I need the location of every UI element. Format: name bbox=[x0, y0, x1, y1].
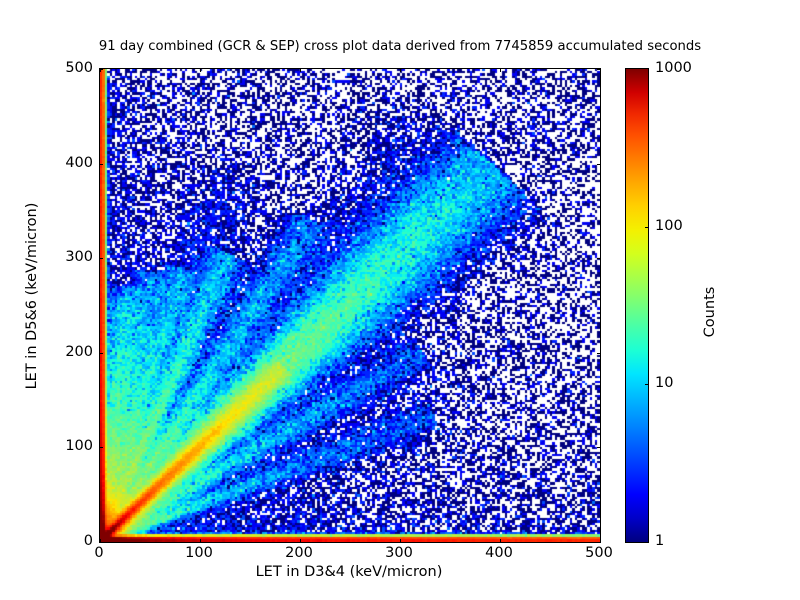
x-tick-label: 500 bbox=[585, 545, 613, 561]
figure-title-line-1: 91 day combined (GCR & SEP) cross plot d… bbox=[0, 39, 800, 56]
y-tick-label: 500 bbox=[65, 60, 93, 76]
colorbar-tick-label: 1000 bbox=[655, 60, 692, 76]
x-tick-mark bbox=[300, 539, 301, 543]
x-tick-mark-top bbox=[200, 68, 201, 72]
x-tick-label: 200 bbox=[285, 545, 313, 561]
y-axis-label: LET in D5&6 (keV/micron) bbox=[24, 146, 40, 446]
y-tick-mark-right bbox=[597, 447, 601, 448]
y-tick-mark-right bbox=[597, 542, 601, 543]
x-tick-label: 0 bbox=[94, 545, 103, 561]
y-tick-label: 0 bbox=[84, 533, 93, 549]
colorbar-label: Counts bbox=[702, 212, 718, 412]
colorbar-tick-label: 100 bbox=[655, 218, 683, 234]
y-tick-label: 400 bbox=[65, 155, 93, 171]
y-tick-mark bbox=[99, 353, 103, 354]
x-tick-mark-top bbox=[400, 68, 401, 72]
y-tick-mark bbox=[99, 164, 103, 165]
y-tick-label-group: 0100200300400500 bbox=[0, 0, 93, 600]
y-tick-mark bbox=[99, 258, 103, 259]
y-tick-mark-right bbox=[597, 353, 601, 354]
y-tick-mark bbox=[99, 447, 103, 448]
y-tick-label: 100 bbox=[65, 438, 93, 454]
x-axis-label: LET in D3&4 (keV/micron) bbox=[99, 564, 599, 580]
x-tick-label: 400 bbox=[485, 545, 513, 561]
x-tick-mark bbox=[100, 539, 101, 543]
y-tick-label: 200 bbox=[65, 344, 93, 360]
x-tick-mark bbox=[400, 539, 401, 543]
colorbar-tick-label: 1 bbox=[655, 533, 664, 549]
x-tick-mark bbox=[200, 539, 201, 543]
x-tick-mark-top bbox=[300, 68, 301, 72]
y-tick-label: 300 bbox=[65, 249, 93, 265]
x-tick-mark-top bbox=[500, 68, 501, 72]
y-tick-mark-right bbox=[597, 164, 601, 165]
x-tick-label: 300 bbox=[385, 545, 413, 561]
colorbar-tick-label: 10 bbox=[655, 375, 673, 391]
y-tick-mark bbox=[99, 542, 103, 543]
scatter-plot-axes[interactable] bbox=[99, 68, 601, 543]
x-tick-label: 100 bbox=[185, 545, 213, 561]
y-tick-mark bbox=[99, 69, 103, 70]
y-tick-mark-right bbox=[597, 69, 601, 70]
x-tick-mark bbox=[500, 539, 501, 543]
x-tick-mark bbox=[600, 539, 601, 543]
colorbar[interactable] bbox=[625, 68, 649, 543]
y-tick-mark-right bbox=[597, 258, 601, 259]
let-cross-plot-heatmap bbox=[100, 69, 600, 542]
colorbar-tick-mark bbox=[645, 384, 649, 385]
colorbar-tick-mark bbox=[645, 227, 649, 228]
x-tick-mark-top bbox=[600, 68, 601, 72]
